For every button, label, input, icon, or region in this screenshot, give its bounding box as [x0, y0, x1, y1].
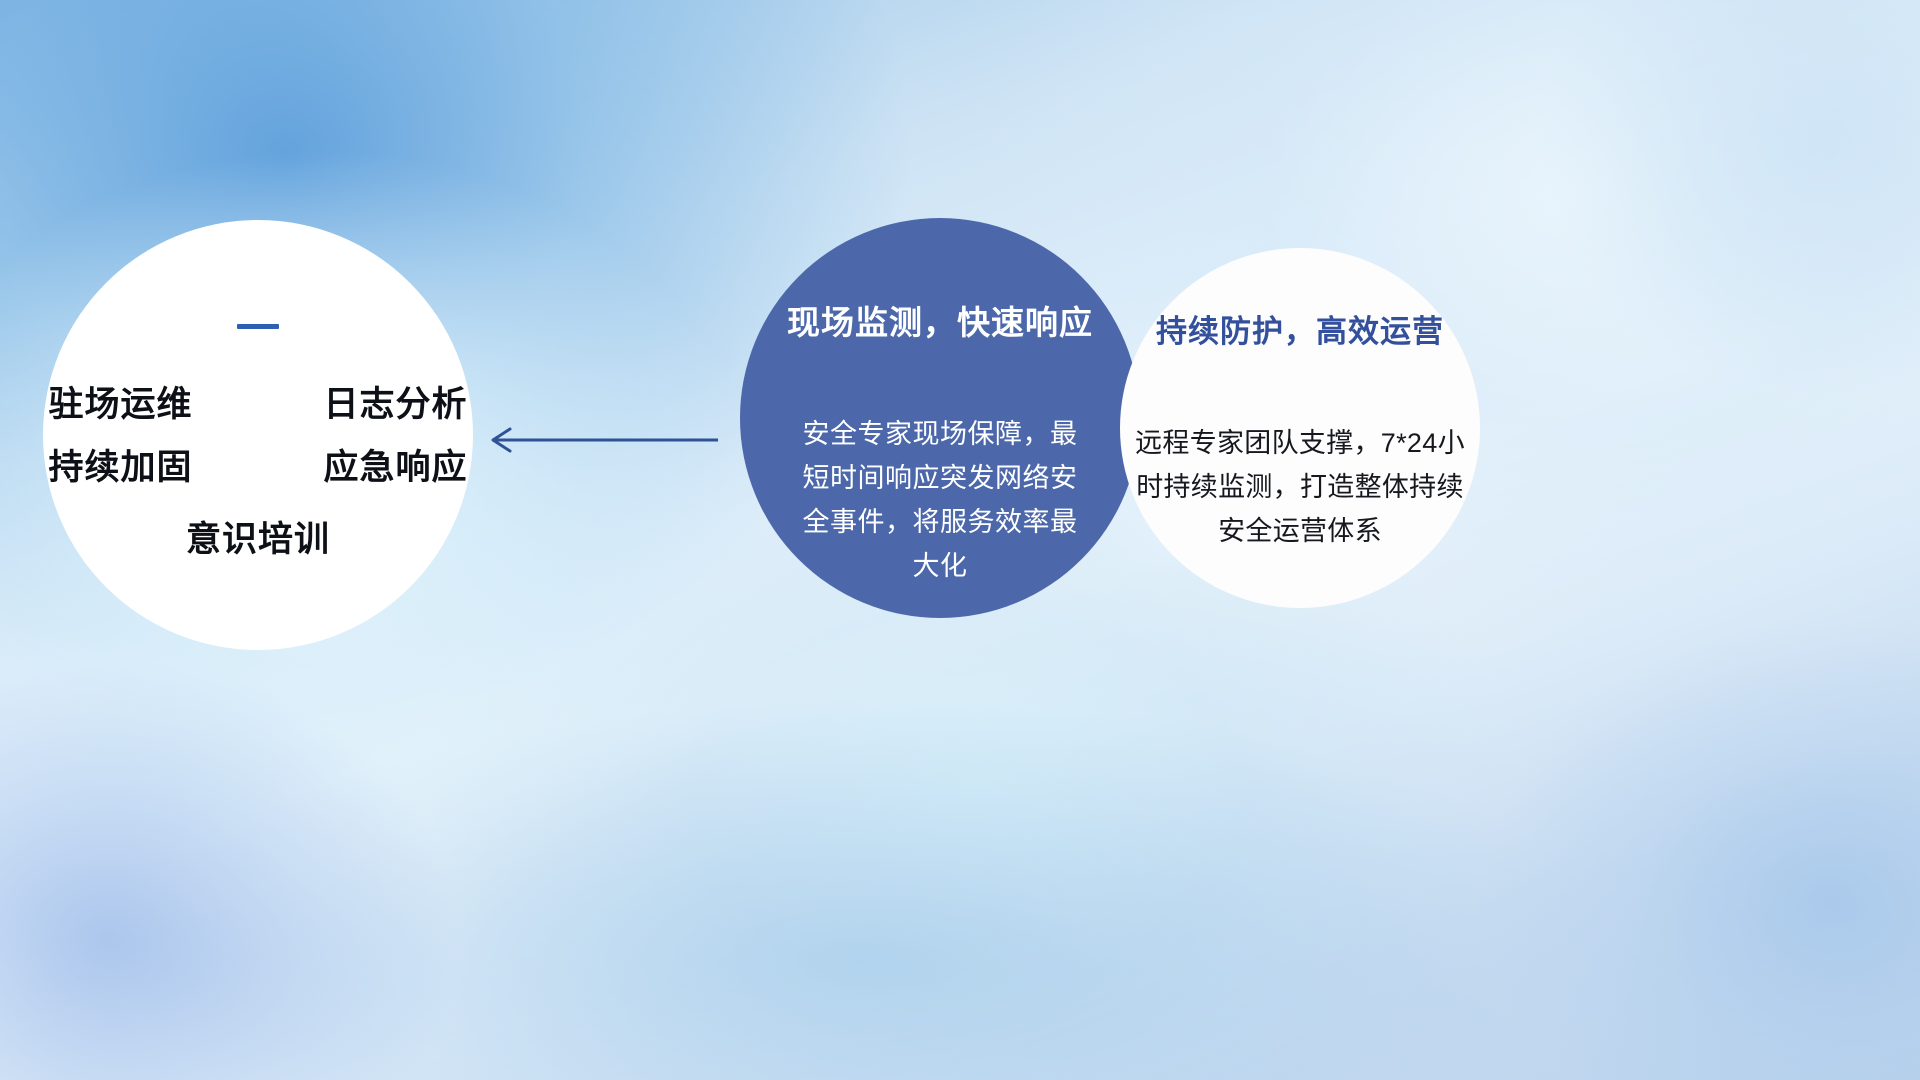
blue-circle-content: 现场监测，快速响应 安全专家现场保障，最短时间响应突发网络安全事件，将服务效率最… — [730, 296, 1150, 588]
left-keyword-line-3: 意识培训 — [43, 508, 473, 571]
right-circle-title: 持续防护，高效运营 — [1120, 306, 1480, 351]
left-circle-keyword-list: 驻场运维 日志分析 持续加固 应急响应 意识培训 — [43, 373, 473, 571]
left-circle-content: 驻场运维 日志分析 持续加固 应急响应 意识培训 — [43, 324, 473, 571]
left-keyword-line-1: 驻场运维 日志分析 — [43, 373, 473, 436]
right-circle-content: 持续防护，高效运营 远程专家团队支撑，7*24小时持续监测，打造整体持续安全运营… — [1120, 306, 1480, 553]
flow-arrow-icon — [480, 418, 720, 462]
capability-circle-right[interactable]: 持续防护，高效运营 远程专家团队支撑，7*24小时持续监测，打造整体持续安全运营… — [1120, 248, 1480, 608]
divider-dash-icon — [237, 324, 279, 329]
capability-circle-left[interactable]: 驻场运维 日志分析 持续加固 应急响应 意识培训 — [43, 220, 473, 650]
blue-circle-title: 现场监测，快速响应 — [730, 296, 1150, 344]
slide-canvas: 驻场运维 日志分析 持续加固 应急响应 意识培训 现场监测，快速响应 安全专家现… — [0, 0, 1920, 1080]
left-keyword-line-2: 持续加固 应急响应 — [43, 436, 473, 499]
right-circle-body: 远程专家团队支撑，7*24小时持续监测，打造整体持续安全运营体系 — [1132, 421, 1468, 553]
blue-circle-body: 安全专家现场保障，最短时间响应突发网络安全事件，将服务效率最大化 — [802, 412, 1078, 588]
capability-circle-middle[interactable]: 现场监测，快速响应 安全专家现场保障，最短时间响应突发网络安全事件，将服务效率最… — [740, 218, 1140, 618]
